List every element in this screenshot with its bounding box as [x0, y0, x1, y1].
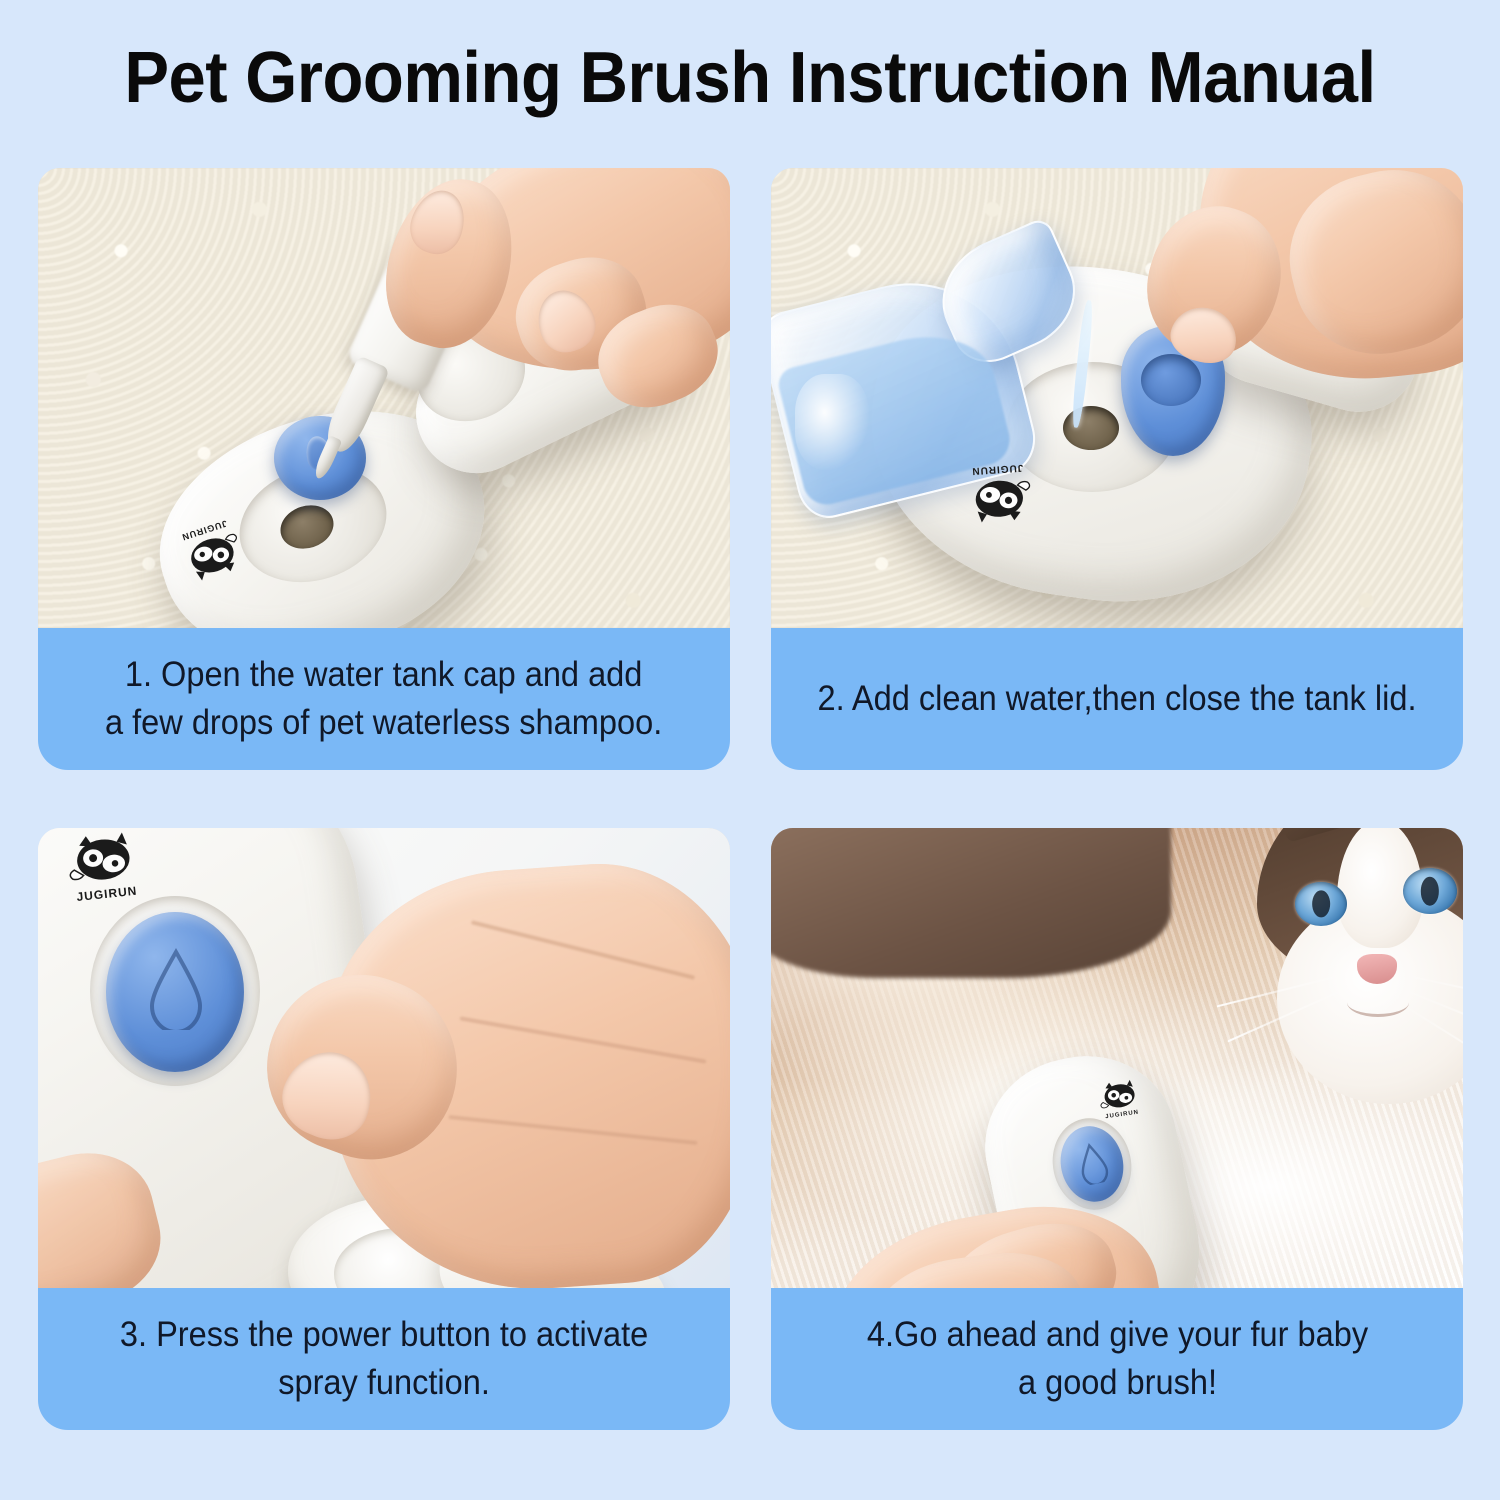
step-3-photo: JUGIRUN	[38, 828, 730, 1288]
step-1-photo: JUGIRUN Pet Comb Leave- In Serum	[38, 168, 730, 628]
background-shadow	[771, 828, 1171, 978]
brand-logo: JUGIRUN	[61, 828, 148, 904]
step-3-caption-text: 3. Press the power button to activate sp…	[120, 1311, 648, 1407]
step-3-caption-line-1: 3. Press the power button to activate	[120, 1311, 648, 1359]
tank-hole	[1063, 406, 1119, 450]
brand-logo: JUGIRUN	[961, 462, 1037, 526]
step-1-caption: 1. Open the water tank cap and add a few…	[38, 628, 730, 770]
step-4-caption-line-1: 4.Go ahead and give your fur baby	[866, 1311, 1367, 1359]
cat-eye-left	[1295, 882, 1347, 926]
brand-logo: JUGIRUN	[1095, 1077, 1146, 1121]
bulldog-logo-icon	[61, 828, 146, 891]
step-2-caption-line-1: 2. Add clean water,then close the tank l…	[818, 675, 1417, 723]
step-3-caption: 3. Press the power button to activate sp…	[38, 1288, 730, 1430]
step-2-caption: 2. Add clean water,then close the tank l…	[771, 628, 1463, 770]
step-2-caption-text: 2. Add clean water,then close the tank l…	[818, 675, 1417, 723]
page-title: Pet Grooming Brush Instruction Manual	[53, 36, 1448, 120]
step-4-photo: JUGIRUN	[771, 828, 1463, 1288]
cat-face	[1171, 828, 1463, 1128]
step-1-caption-text: 1. Open the water tank cap and add a few…	[105, 651, 662, 747]
step-1-caption-line-1: 1. Open the water tank cap and add	[105, 651, 662, 699]
step-4-caption-text: 4.Go ahead and give your fur baby a good…	[866, 1311, 1367, 1407]
cap-ring-icon	[1141, 354, 1201, 406]
step-card-3: JUGIRUN 3. Pr	[38, 828, 730, 1430]
step-card-1: JUGIRUN Pet Comb Leave- In Serum	[38, 168, 730, 770]
bulldog-logo-icon	[962, 472, 1037, 526]
pitcher-highlight	[795, 374, 869, 470]
infographic-page: Pet Grooming Brush Instruction Manual	[0, 0, 1500, 1500]
step-card-4: JUGIRUN 4.Go ahead and give your fur bab…	[771, 828, 1463, 1430]
step-2-photo: JUGIRUN	[771, 168, 1463, 628]
cat-eye-right	[1403, 868, 1457, 914]
step-4-caption: 4.Go ahead and give your fur baby a good…	[771, 1288, 1463, 1430]
step-card-2: JUGIRUN 2. Add clean water,then close th…	[771, 168, 1463, 770]
water-drop-icon	[146, 946, 206, 1030]
steps-grid: JUGIRUN Pet Comb Leave- In Serum	[38, 168, 1463, 1430]
step-1-caption-line-2: a few drops of pet waterless shampoo.	[105, 699, 662, 747]
cat-mouth	[1347, 988, 1409, 1017]
step-4-caption-line-2: a good brush!	[866, 1359, 1367, 1407]
step-3-caption-line-2: spray function.	[120, 1359, 648, 1407]
